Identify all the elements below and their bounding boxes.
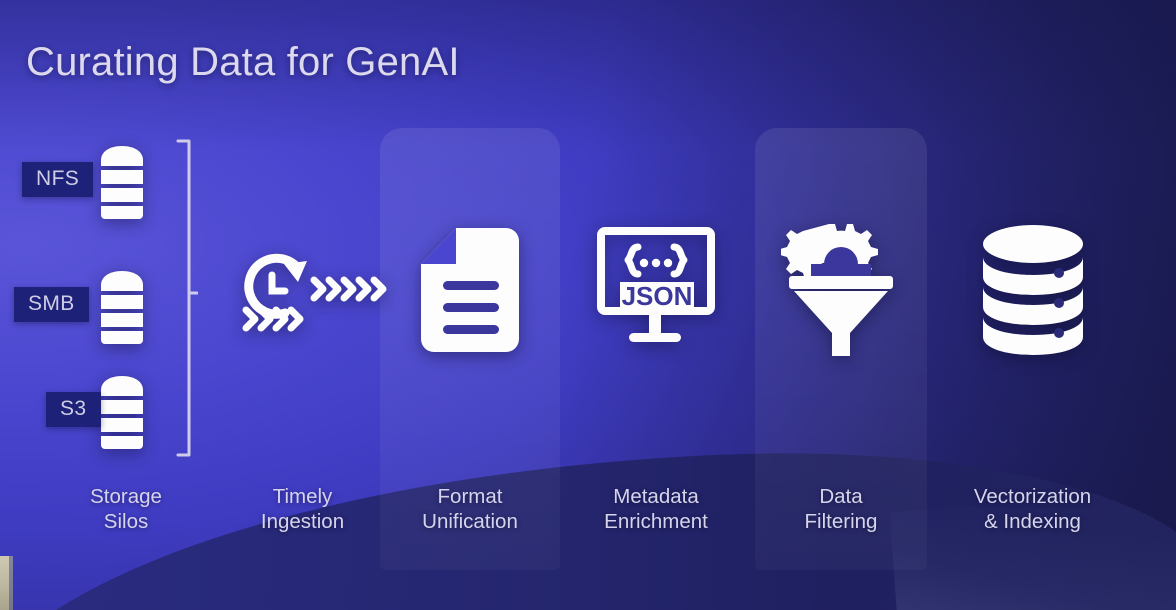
database-cylinder-icon: [98, 375, 146, 451]
stage-label-data-filtering: Data Filtering: [755, 484, 927, 534]
silo-item-nfs[interactable]: NFS: [8, 140, 168, 230]
document-lines-icon: [418, 226, 522, 354]
stage-label-storage-silos: Storage Silos: [8, 484, 244, 534]
silo-label: NFS: [36, 167, 79, 190]
stage-icon-wrapper: JSON: [565, 120, 747, 460]
silo-item-smb[interactable]: SMB: [8, 265, 168, 355]
stage-format-unification: Format Unification: [380, 120, 560, 540]
stage-icon-wrapper: [935, 120, 1130, 460]
stage-icon-wrapper: [380, 120, 560, 460]
stage-metadata-enrichment: JSON Metadata Enrichment: [565, 120, 747, 540]
json-badge-text: JSON: [622, 281, 693, 311]
stage-data-filtering: Data Filtering: [755, 120, 927, 540]
funnel-gear-icon: [781, 220, 901, 360]
silo-label: SMB: [28, 292, 75, 315]
stage-label-metadata-enrichment: Metadata Enrichment: [565, 484, 747, 534]
slide-canvas: Curating Data for GenAI NFS: [0, 0, 1176, 610]
silo-badge-nfs: NFS: [22, 162, 93, 197]
curly-bracket-icon: [176, 138, 198, 458]
stage-storage-silos: NFS SMB S3: [8, 120, 244, 540]
monitor-json-icon: JSON: [595, 227, 717, 353]
database-cylinder-icon: [98, 145, 146, 221]
database-cylinder-icon: [98, 270, 146, 346]
stage-icon-wrapper: [755, 120, 927, 460]
stage-vectorization-indexing: Vectorization & Indexing: [935, 120, 1130, 540]
stage-label-vectorization-indexing: Vectorization & Indexing: [935, 484, 1130, 534]
left-edge-strip-shadow: [9, 556, 13, 610]
silo-badge-smb: SMB: [14, 287, 89, 322]
database-stack-icon: [977, 223, 1089, 357]
silo-item-s3[interactable]: S3: [8, 370, 168, 460]
stage-label-timely-ingestion: Timely Ingestion: [220, 484, 385, 534]
stage-timely-ingestion: Timely Ingestion: [220, 120, 385, 540]
page-title: Curating Data for GenAI: [26, 40, 460, 85]
clock-arrow-chevrons-icon: [228, 248, 388, 348]
stage-label-format-unification: Format Unification: [380, 484, 560, 534]
silo-badge-s3: S3: [46, 392, 101, 427]
silo-label: S3: [60, 397, 87, 420]
